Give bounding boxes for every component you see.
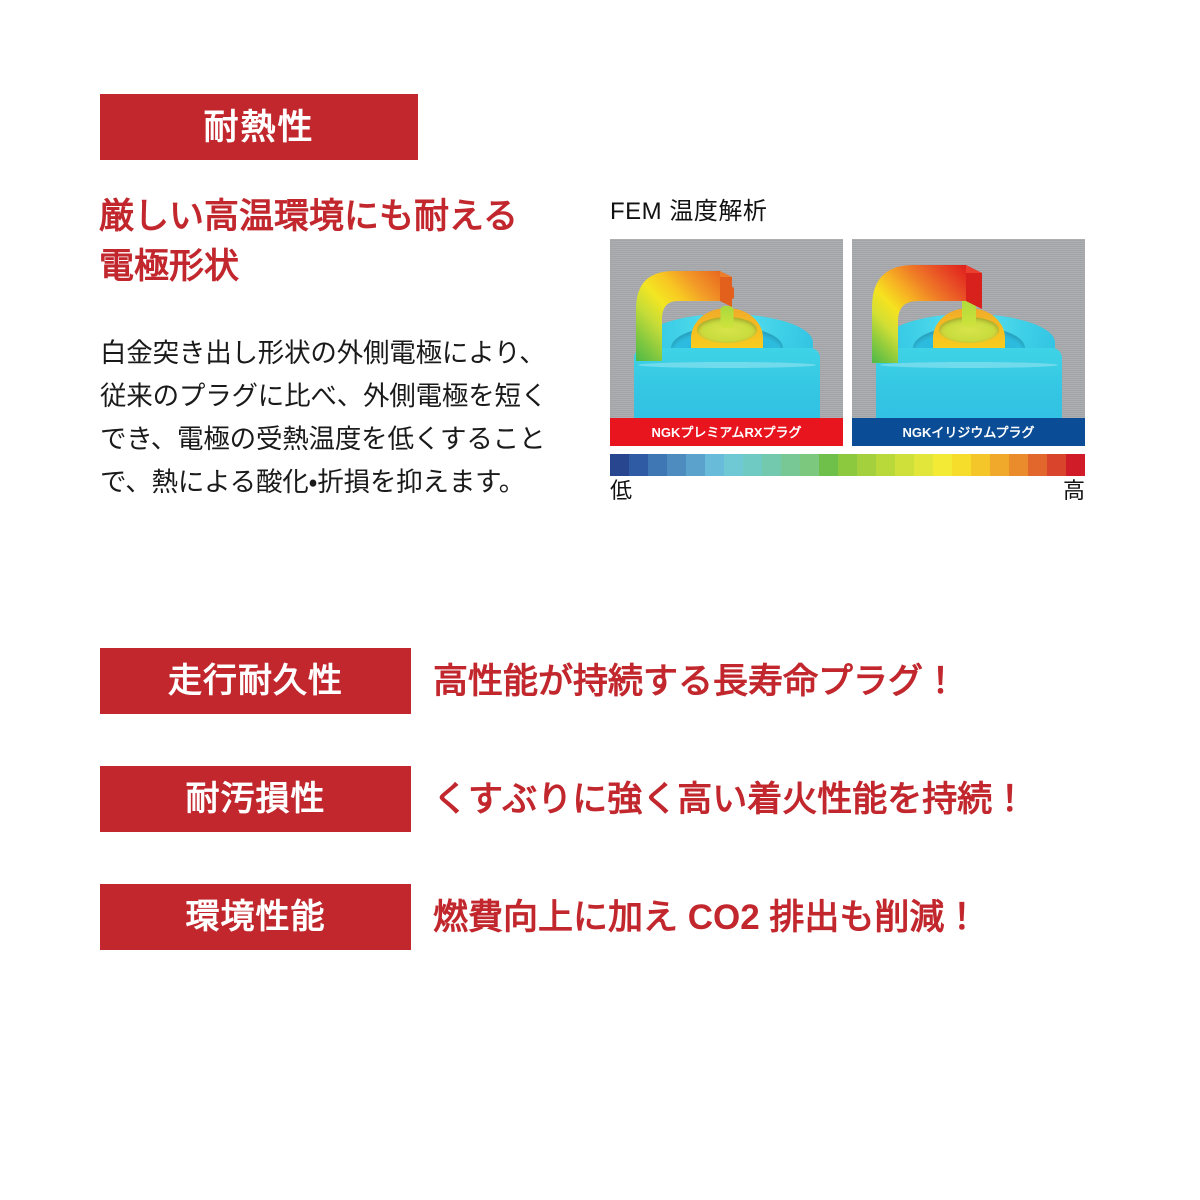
fem-caption-premium-rx-label: NGKプレミアムRXプラグ [651,426,801,439]
fem-caption-premium-rx: NGKプレミアムRXプラグ [610,418,843,446]
temperature-scale: 低 高 [610,454,1085,503]
temperature-scale-band-16 [914,454,933,476]
temperature-scale-band-7 [743,454,762,476]
heat-resistance-badge-label: 耐熱性 [203,110,314,145]
body-line-3: でき、電極の受熱温度を低くすること [100,418,590,461]
fem-analysis-title: FEM 温度解析 [610,200,1085,224]
temperature-scale-band-9 [781,454,800,476]
feature-text-fouling: くすぶりに強く高い着火性能を持続！ [433,782,1027,817]
temperature-scale-band-22 [1028,454,1047,476]
temperature-scale-band-20 [990,454,1009,476]
feature-badge-environment: 環境性能 [100,884,411,950]
temperature-scale-band-8 [762,454,781,476]
feature-badge-fouling: 耐汚損性 [100,766,411,832]
fem-panel-group: NGKプレミアムRXプラグ [610,239,1085,446]
temperature-scale-band-2 [648,454,667,476]
body-line-1: 白金突き出し形状の外側電極により、 [100,332,590,375]
temperature-scale-band-13 [857,454,876,476]
fem-panel-premium-rx: NGKプレミアムRXプラグ [610,239,843,446]
ground-electrode-rx-icon [628,257,740,361]
temperature-scale-band-14 [876,454,895,476]
fem-caption-iridium-label: NGKイリジウムプラグ [902,426,1034,439]
feature-badge-fouling-label: 耐汚損性 [186,782,326,816]
heading-line-2: 電極形状 [99,242,599,292]
heat-resistance-body: 白金突き出し形状の外側電極により、 従来のプラグに比べ、外側電極を短く でき、電… [100,332,590,504]
temperature-scale-band-19 [971,454,990,476]
feature-badge-environment-label: 環境性能 [186,900,326,934]
fem-analysis-figure: FEM 温度解析 [610,200,1085,503]
infographic-page: 耐熱性 厳しい高温環境にも耐える 電極形状 白金突き出し形状の外側電極により、 … [0,0,1200,1200]
temperature-scale-band-1 [629,454,648,476]
temperature-scale-low-label: 低 [610,479,632,503]
body-line-4: で、熱による酸化・折損を抑えます。 [100,461,590,504]
temperature-scale-band-24 [1066,454,1085,476]
heat-resistance-badge: 耐熱性 [100,94,418,160]
temperature-scale-band-5 [705,454,724,476]
fem-panel-iridium: NGKイリジウムプラグ [852,239,1085,446]
feature-row-fouling: 耐汚損性 くすぶりに強く高い着火性能を持続！ [100,766,1100,832]
temperature-scale-band-23 [1047,454,1066,476]
feature-row-environment: 環境性能 燃費向上に加え CO2 排出も削減！ [100,884,1100,950]
temperature-scale-high-label: 高 [1063,479,1085,503]
temperature-scale-band-17 [933,454,952,476]
temperature-scale-band-12 [838,454,857,476]
temperature-scale-band-15 [895,454,914,476]
temperature-scale-band-21 [1009,454,1028,476]
feature-text-durability: 高性能が持続する長寿命プラグ！ [433,664,958,699]
feature-badge-durability: 走行耐久性 [100,648,411,714]
temperature-scale-band-18 [952,454,971,476]
heading-line-1: 厳しい高温環境にも耐える [99,192,599,242]
ground-electrode-iridium-icon [866,251,990,363]
temperature-scale-band-4 [686,454,705,476]
feature-text-environment: 燃費向上に加え CO2 排出も削減！ [433,900,979,935]
temperature-scale-band-0 [610,454,629,476]
feature-row-durability: 走行耐久性 高性能が持続する長寿命プラグ！ [100,648,1100,714]
heat-resistance-heading: 厳しい高温環境にも耐える 電極形状 [99,192,599,291]
temperature-scale-band-6 [724,454,743,476]
feature-badge-durability-label: 走行耐久性 [168,664,343,698]
body-line-2: 従来のプラグに比べ、外側電極を短く [100,375,590,418]
temperature-scale-band-3 [667,454,686,476]
fem-caption-iridium: NGKイリジウムプラグ [852,418,1085,446]
temperature-scale-band-10 [800,454,819,476]
temperature-scale-bar [610,454,1085,476]
temperature-scale-band-11 [819,454,838,476]
temperature-scale-labels: 低 高 [610,479,1085,503]
